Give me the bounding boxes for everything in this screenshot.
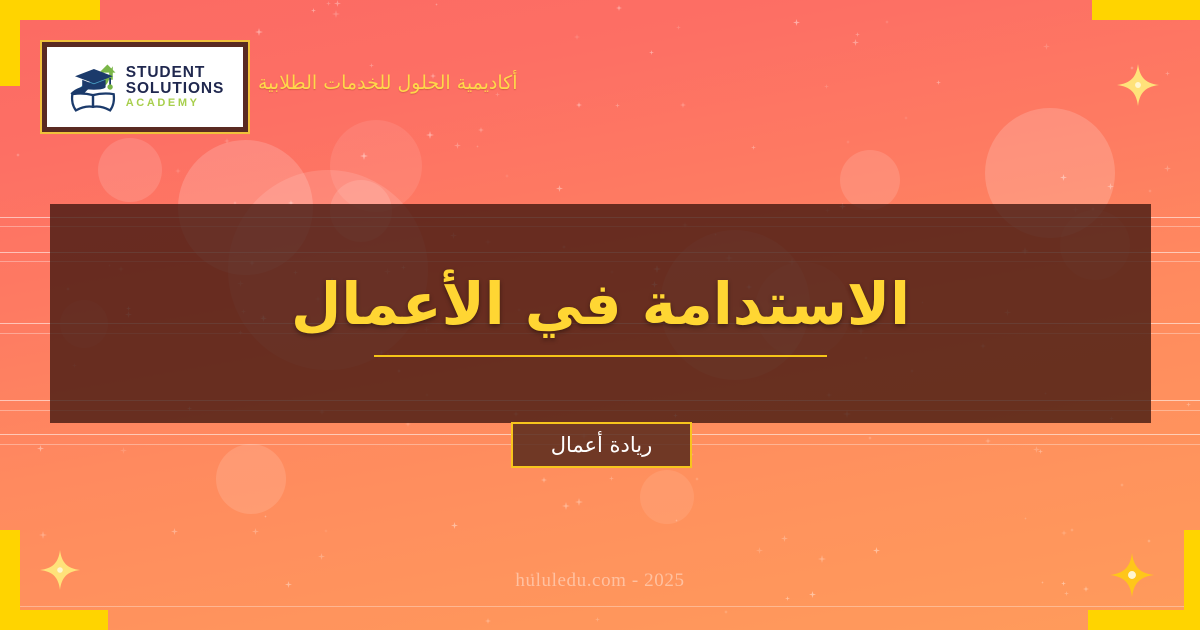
corner-top-right bbox=[1092, 0, 1200, 20]
sparkle-particle bbox=[556, 185, 563, 192]
sparkle-particle bbox=[649, 50, 654, 55]
sparkle-particle bbox=[781, 535, 788, 542]
sparkle-particle bbox=[360, 152, 368, 160]
sparkle-particle bbox=[609, 476, 614, 481]
corner-bracket-icon bbox=[0, 610, 108, 630]
sparkle-particle bbox=[852, 39, 859, 46]
sparkle-particle bbox=[936, 80, 941, 85]
sparkle-particle bbox=[1147, 539, 1151, 543]
logo-card: STUDENT SOLUTIONS ACADEMY bbox=[47, 47, 243, 127]
sparkle-particle bbox=[171, 528, 178, 535]
sparkle-particle bbox=[675, 519, 678, 522]
sparkle-particle bbox=[175, 168, 181, 174]
academy-logo: STUDENT SOLUTIONS ACADEMY bbox=[40, 40, 250, 134]
sparkle-particle bbox=[264, 515, 267, 518]
sparkle-particle bbox=[16, 153, 20, 157]
bokeh-circle bbox=[330, 120, 422, 212]
graduation-cap-book-arrow-icon bbox=[66, 59, 120, 115]
sparkle-particle bbox=[454, 142, 461, 149]
sparkle-particle bbox=[252, 528, 259, 535]
sparkle-star-icon bbox=[1117, 64, 1159, 106]
sparkle-particle bbox=[1130, 66, 1134, 70]
sparkle-particle bbox=[855, 32, 860, 37]
sparkle-particle bbox=[873, 547, 880, 554]
sparkle-particle bbox=[818, 555, 826, 563]
sparkle-particle bbox=[695, 477, 699, 481]
corner-bracket-icon bbox=[0, 0, 20, 86]
sparkle-particle bbox=[255, 28, 263, 36]
category-badge: ريادة أعمال bbox=[511, 422, 692, 468]
sparkle-particle bbox=[1024, 517, 1027, 520]
sparkle-particle bbox=[616, 5, 622, 11]
sparkle-particle bbox=[332, 10, 340, 18]
title-underline bbox=[374, 355, 827, 357]
sparkle-particle bbox=[1107, 183, 1114, 190]
sparkle-particle bbox=[1164, 165, 1171, 172]
sparkle-particle bbox=[541, 477, 547, 483]
sparkle-particle bbox=[1070, 528, 1074, 532]
sparkle-particle bbox=[1033, 446, 1040, 453]
sparkle-particle bbox=[809, 591, 816, 598]
footer-credit: hululedu.com - 2025 bbox=[0, 570, 1200, 592]
sparkle-particle bbox=[1060, 174, 1067, 181]
sparkle-particle bbox=[1186, 402, 1191, 407]
sparkle-particle bbox=[324, 529, 328, 533]
sparkle-particle bbox=[37, 445, 44, 452]
sparkle-particle bbox=[676, 25, 681, 30]
sparkle-particle bbox=[562, 502, 570, 510]
logo-wordmark: STUDENT SOLUTIONS ACADEMY bbox=[126, 65, 225, 109]
corner-bracket-icon bbox=[1088, 610, 1200, 630]
sparkle-particle bbox=[793, 19, 800, 26]
sparkle-particle bbox=[311, 8, 316, 13]
sparkle-particle bbox=[885, 20, 889, 24]
sparkle-particle bbox=[785, 596, 790, 601]
sparkle-particle bbox=[451, 522, 458, 529]
sparkle-particle bbox=[1165, 71, 1170, 76]
sparkle-particle bbox=[985, 438, 991, 444]
sparkle-particle bbox=[574, 34, 580, 40]
corner-bracket-icon bbox=[0, 0, 100, 20]
sparkle-particle bbox=[756, 547, 763, 554]
page-title: الاستدامة في الأعمال bbox=[291, 270, 910, 338]
logo-line-2: SOLUTIONS bbox=[126, 81, 225, 97]
sparkle-particle bbox=[476, 145, 479, 148]
course-cover-slide: STUDENT SOLUTIONS ACADEMY أكاديمية الحلو… bbox=[0, 0, 1200, 630]
bokeh-circle bbox=[216, 444, 286, 514]
sparkle-particle bbox=[595, 617, 600, 622]
academy-name-arabic: أكاديمية الحلول للخدمات الطلابية bbox=[258, 72, 518, 94]
sparkle-particle bbox=[1061, 530, 1067, 536]
bokeh-circle bbox=[840, 150, 900, 210]
sparkle-particle bbox=[1038, 449, 1043, 454]
category-badge-label: ريادة أعمال bbox=[551, 433, 653, 457]
sparkle-particle bbox=[846, 140, 850, 144]
sparkle-particle bbox=[904, 116, 908, 120]
sparkle-particle bbox=[1120, 483, 1124, 487]
sparkle-particle bbox=[478, 127, 484, 133]
sparkle-particle bbox=[724, 610, 728, 614]
sparkle-particle bbox=[120, 447, 127, 454]
logo-line-1: STUDENT bbox=[126, 65, 225, 81]
sparkle-particle bbox=[575, 498, 583, 506]
sparkle-particle bbox=[868, 436, 872, 440]
sparkle-particle bbox=[751, 145, 756, 150]
sparkle-particle bbox=[680, 102, 686, 108]
sparkle-particle bbox=[318, 553, 325, 560]
sparkle-particle bbox=[326, 1, 331, 6]
sparkle-particle bbox=[1148, 189, 1152, 193]
streak-line bbox=[0, 606, 1200, 607]
sparkle-particle bbox=[1043, 43, 1050, 50]
corner-bracket-icon bbox=[1092, 0, 1200, 20]
title-block: الاستدامة في الأعمال bbox=[50, 204, 1151, 423]
sparkle-particle bbox=[485, 618, 491, 624]
sparkle-particle bbox=[334, 0, 341, 7]
sparkle-particle bbox=[615, 103, 620, 108]
sparkle-particle bbox=[39, 531, 47, 539]
bokeh-circle bbox=[640, 470, 694, 524]
sparkle-particle bbox=[576, 102, 582, 108]
sparkle-particle bbox=[505, 174, 509, 178]
sparkle-particle bbox=[435, 3, 438, 6]
sparkle-particle bbox=[824, 84, 829, 89]
logo-line-3: ACADEMY bbox=[126, 98, 225, 109]
bokeh-circle bbox=[98, 138, 162, 202]
sparkle-particle bbox=[369, 63, 374, 68]
sparkle-particle bbox=[224, 138, 230, 144]
sparkle-particle bbox=[426, 131, 434, 139]
